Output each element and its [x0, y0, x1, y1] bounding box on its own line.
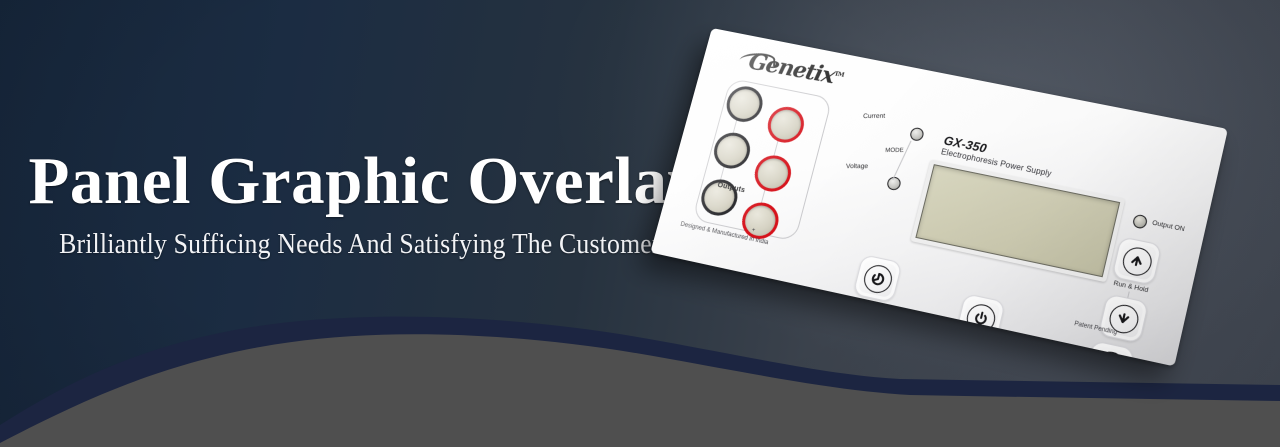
power-icon [971, 309, 990, 328]
outputs-group: - + [692, 78, 833, 242]
enter-arrow-icon [1100, 356, 1119, 367]
output-jack-black[interactable] [710, 130, 754, 172]
lcd-display [910, 159, 1125, 282]
run-stop-button-ring [963, 301, 997, 335]
mode-group-label: MODE [885, 148, 904, 154]
output-jack-red[interactable] [764, 104, 808, 146]
banner-stage: Panel Graphic Overlay Brilliantly Suffic… [0, 0, 1280, 447]
chevron-up-icon [1128, 252, 1146, 269]
product-image: GenetixTM - + Outputs [712, 28, 1272, 408]
control-panel-overlay: GenetixTM - + Outputs [650, 28, 1228, 366]
mode-button-ring [861, 262, 895, 295]
current-led-icon [909, 127, 925, 142]
enter-button[interactable] [1084, 340, 1135, 366]
led-link-line [892, 141, 911, 180]
run-stop-label: Run/Stop [947, 335, 1002, 354]
lcd-screen-surface [915, 164, 1120, 277]
run-stop-button[interactable] [955, 293, 1006, 343]
trademark-mark: TM [834, 70, 845, 78]
up-button[interactable] [1111, 236, 1162, 286]
output-on-led-icon [1132, 214, 1149, 230]
output-jack-black[interactable] [723, 83, 767, 125]
output-jack-red[interactable] [751, 152, 795, 195]
rotary-icon [868, 269, 887, 287]
chevron-down-icon [1115, 310, 1133, 328]
current-label: Current [863, 113, 885, 120]
down-button[interactable] [1098, 293, 1149, 343]
voltage-label: Voltage [846, 163, 868, 170]
mode-button[interactable] [853, 254, 903, 303]
up-button-ring [1120, 244, 1154, 277]
output-on-label: Output ON [1151, 219, 1185, 233]
enter-button-ring [1092, 348, 1127, 366]
